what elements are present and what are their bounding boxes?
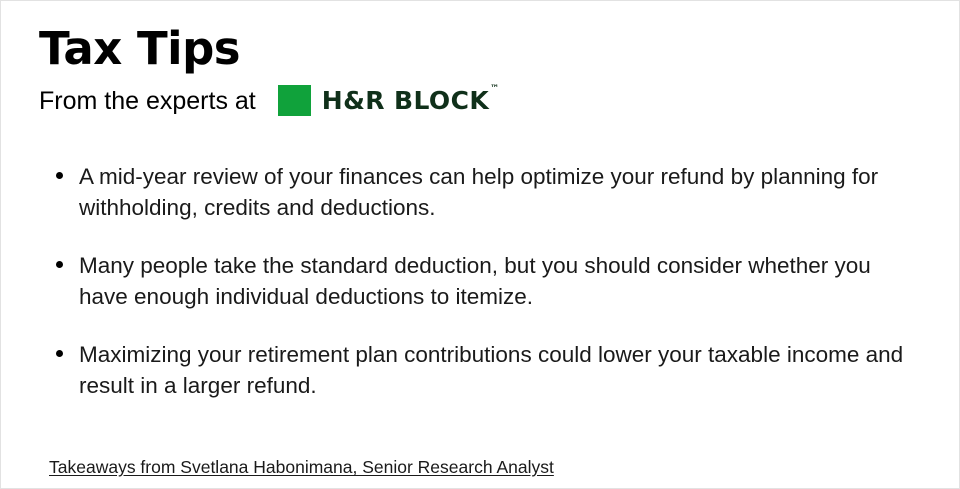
list-item-text: Maximizing your retirement plan contribu…: [79, 342, 903, 398]
hr-block-wordmark-text: H&R BLOCK: [322, 86, 489, 115]
subtitle-text: From the experts at: [39, 86, 256, 116]
tips-bullet-list: A mid-year review of your finances can h…: [51, 161, 923, 401]
list-item: Many people take the standard deduction,…: [51, 250, 923, 312]
list-item: Maximizing your retirement plan contribu…: [51, 339, 923, 401]
trademark-icon: ™: [490, 84, 499, 94]
bullet-point-icon: [56, 261, 63, 268]
list-item: A mid-year review of your finances can h…: [51, 161, 923, 223]
page-title: Tax Tips: [39, 23, 939, 75]
slide-header: Tax Tips From the experts at H&R BLOCK™: [39, 23, 939, 116]
subtitle-row: From the experts at H&R BLOCK™: [39, 85, 939, 116]
list-item-text: A mid-year review of your finances can h…: [79, 164, 878, 220]
bullet-point-icon: [56, 172, 63, 179]
author-credit: Takeaways from Svetlana Habonimana, Seni…: [49, 456, 554, 478]
hr-block-logo: H&R BLOCK™: [278, 85, 499, 116]
hr-block-wordmark: H&R BLOCK™: [322, 88, 499, 114]
tax-tips-slide: Tax Tips From the experts at H&R BLOCK™ …: [0, 0, 960, 489]
bullet-point-icon: [56, 350, 63, 357]
green-square-icon: [278, 85, 311, 116]
list-item-text: Many people take the standard deduction,…: [79, 253, 871, 309]
